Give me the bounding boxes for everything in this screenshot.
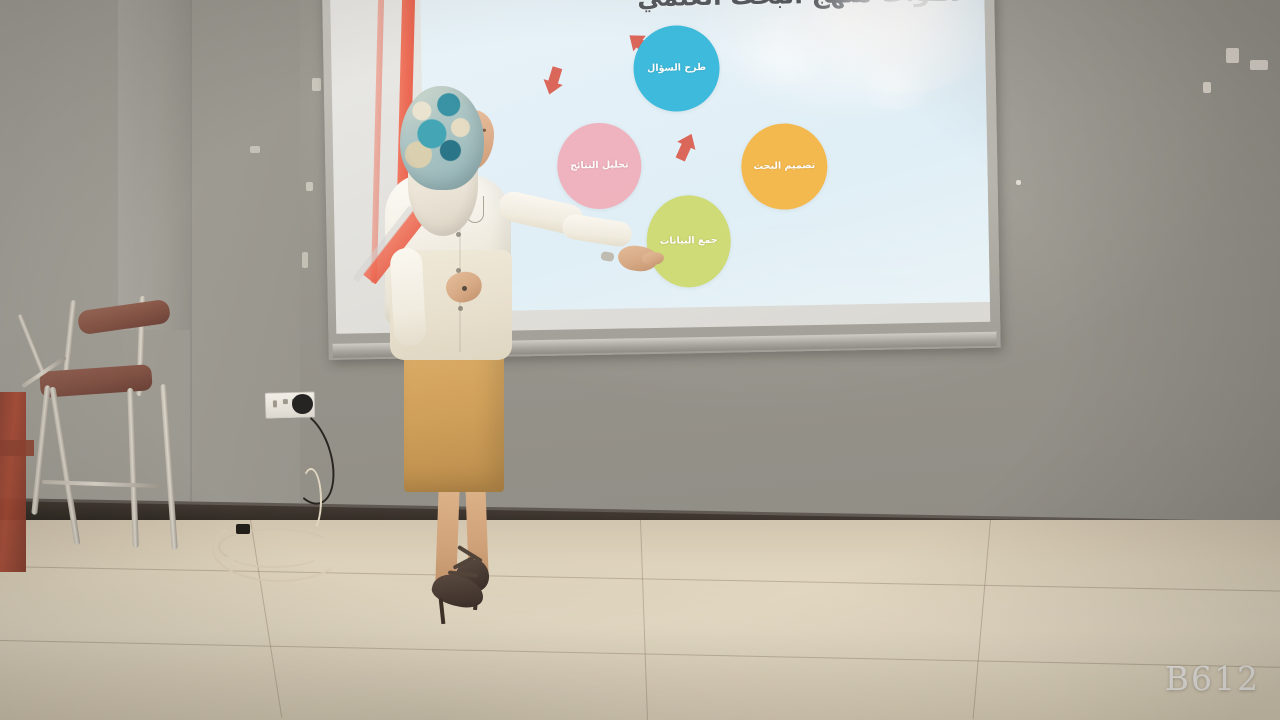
b612-watermark: B612 xyxy=(1165,659,1260,698)
node-analyze-label: تحليل النتائج xyxy=(570,159,629,173)
paint-chip xyxy=(250,146,260,153)
node-design-label: تصميم البحث xyxy=(753,160,815,174)
red-chair-seat-edge xyxy=(0,440,34,456)
wall-pilaster xyxy=(118,0,190,330)
socket-slot xyxy=(283,399,288,404)
node-design: تصميم البحث xyxy=(741,123,829,211)
paint-chip xyxy=(1250,60,1268,70)
presenter-skirt xyxy=(404,352,504,492)
presenter-wristwatch xyxy=(600,251,614,262)
floor xyxy=(0,520,1280,720)
paint-chip xyxy=(1226,48,1239,63)
node-question-label: طرح السؤال xyxy=(647,62,706,76)
projector-glare xyxy=(721,15,842,87)
extension-cable-loop xyxy=(226,538,322,568)
cable-connector xyxy=(236,524,250,534)
node-collect: جمع البيانات xyxy=(646,195,732,289)
paint-chip xyxy=(1016,180,1021,185)
paint-chip xyxy=(1203,82,1211,93)
projector-glare xyxy=(851,59,942,111)
presenter-blouse-button xyxy=(456,232,461,237)
node-question: طرح السؤال xyxy=(633,25,721,113)
presenter-left-arm xyxy=(389,247,426,347)
projector-glare xyxy=(789,0,990,95)
paint-chip xyxy=(306,182,313,191)
paint-chip xyxy=(302,252,308,268)
node-analyze: تحليل النتائج xyxy=(557,122,643,210)
presenter-ring xyxy=(462,286,467,291)
red-chair-edge xyxy=(0,392,26,572)
presenter-blouse-button xyxy=(458,306,463,311)
wall-seam xyxy=(190,0,192,520)
node-collect-label: جمع البيانات xyxy=(660,234,718,248)
photo-scene: خطوات منهج البحث العلمي طرح السؤال تصميم… xyxy=(0,0,1280,720)
slide-title: خطوات منهج البحث العلمي xyxy=(542,0,973,17)
paint-chip xyxy=(312,78,321,91)
socket-slot xyxy=(273,400,277,407)
presenter-hijab xyxy=(400,86,484,190)
